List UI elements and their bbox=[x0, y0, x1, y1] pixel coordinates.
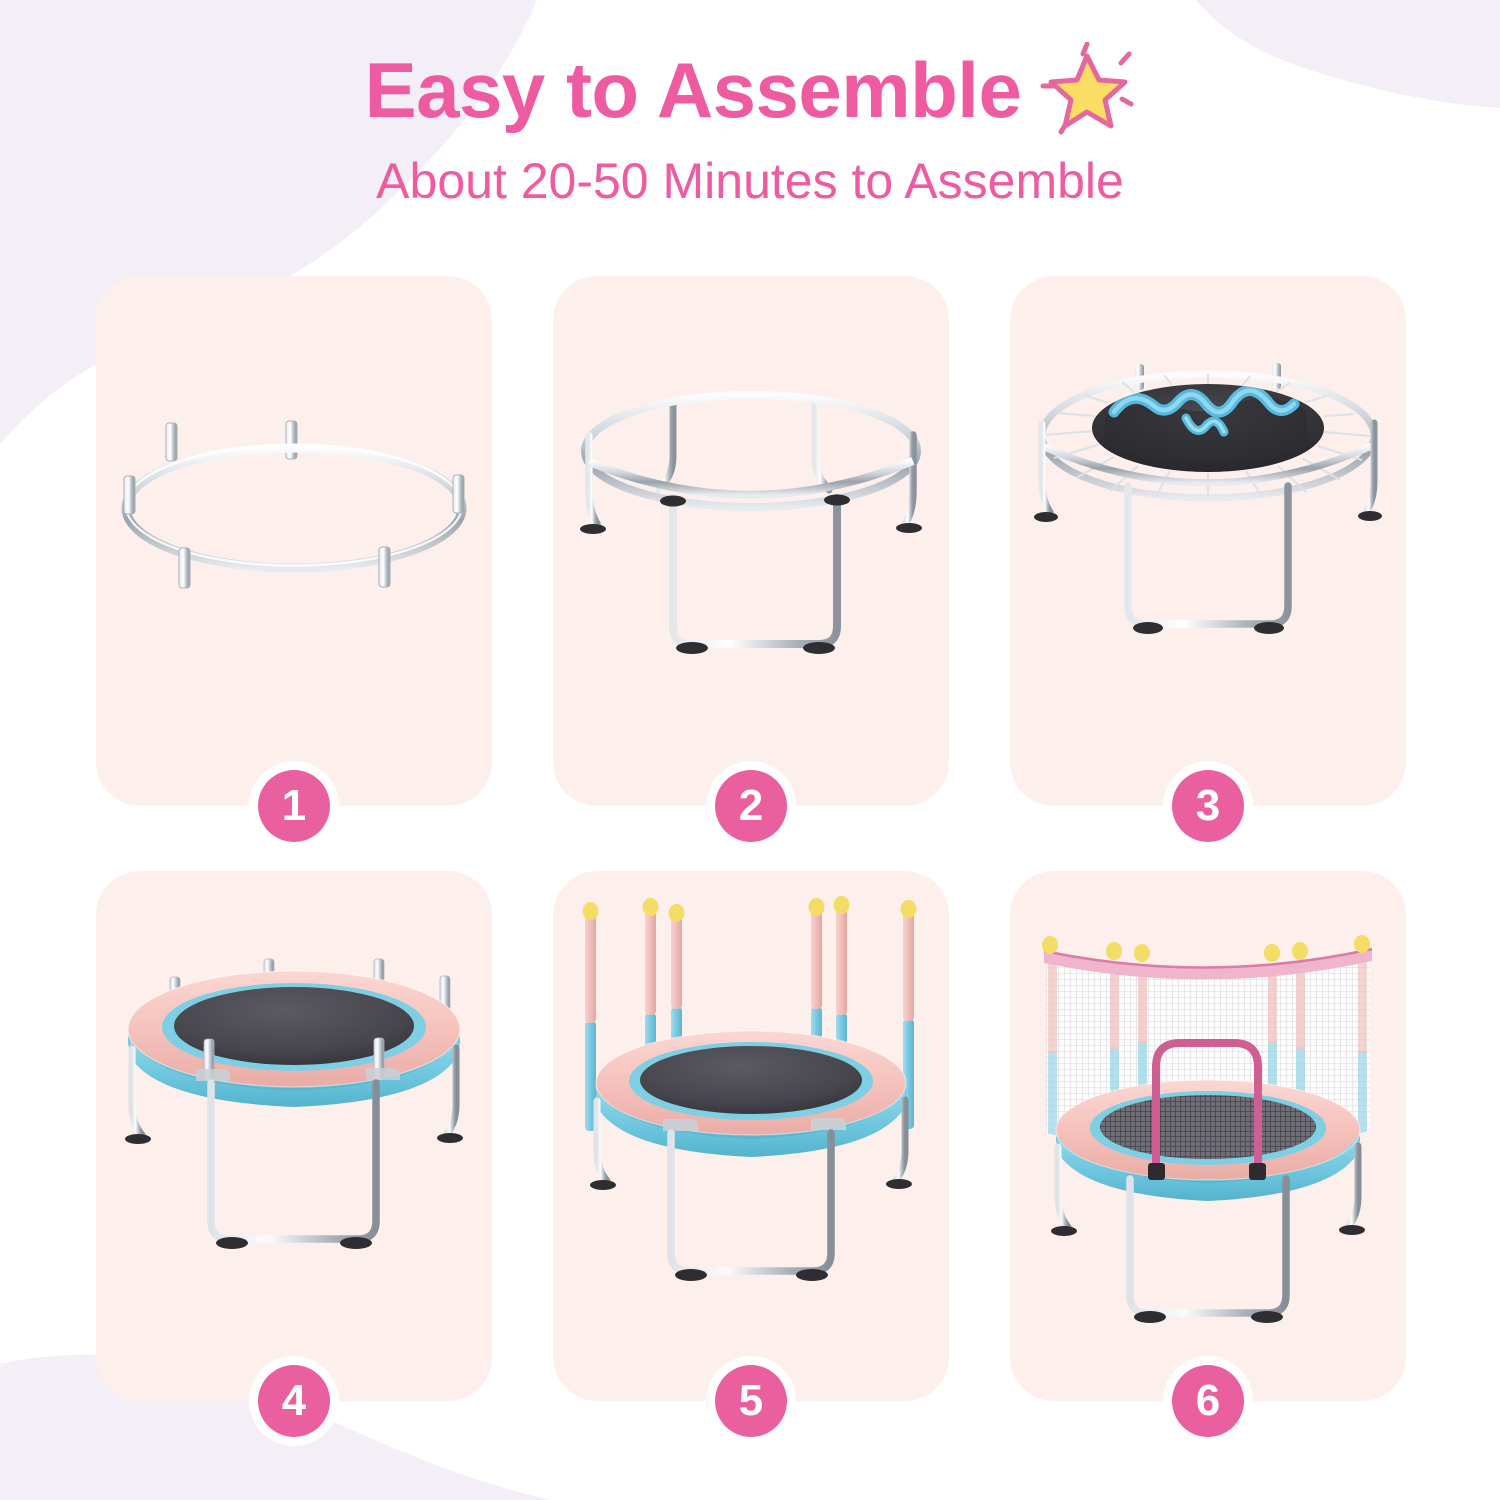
title-row: Easy to Assemble bbox=[0, 0, 1500, 138]
step-number-badge: 4 bbox=[258, 1365, 330, 1437]
jump-mat-attached-figure bbox=[1010, 276, 1406, 806]
enclosure-poles-installed-figure bbox=[553, 871, 949, 1401]
step-panel-1: 1 bbox=[96, 276, 492, 806]
step-panel-3: 3 bbox=[1010, 276, 1406, 806]
step-panel-2: 2 bbox=[553, 276, 949, 806]
step-panel-6: 6 bbox=[1010, 871, 1406, 1401]
sparkle-star-icon bbox=[1039, 42, 1135, 138]
safety-pad-installed-figure bbox=[96, 871, 492, 1401]
step-number-badge: 6 bbox=[1172, 1365, 1244, 1437]
trampoline-frame-ring-figure bbox=[96, 276, 492, 806]
step-number-badge: 5 bbox=[715, 1365, 787, 1437]
header: Easy to Assemble About 20-50 Minutes to … bbox=[0, 0, 1500, 240]
step-number-badge: 3 bbox=[1172, 770, 1244, 842]
step-number-badge: 1 bbox=[258, 770, 330, 842]
step-number-badge: 2 bbox=[715, 770, 787, 842]
assembly-steps-grid: 1 bbox=[96, 276, 1406, 1401]
step-panel-4: 4 bbox=[96, 871, 492, 1401]
step-panel-5: 5 bbox=[553, 871, 949, 1401]
page-title: Easy to Assemble bbox=[365, 51, 1022, 129]
frame-with-legs-figure bbox=[553, 276, 949, 806]
page-subtitle: About 20-50 Minutes to Assemble bbox=[0, 156, 1500, 206]
completed-trampoline-with-net-figure bbox=[1010, 871, 1406, 1401]
